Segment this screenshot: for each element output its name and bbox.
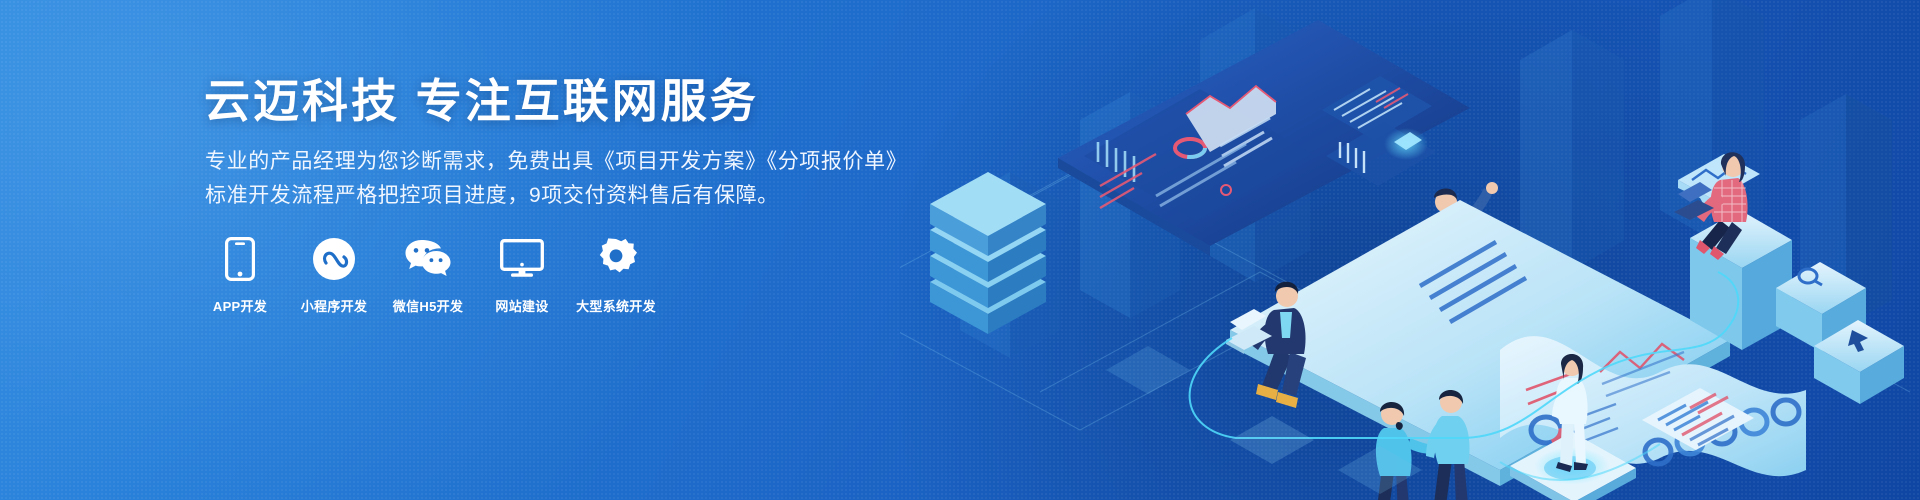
isometric-illustration (900, 0, 1920, 500)
mobile-phone-icon (225, 236, 255, 282)
service-label-mini-program: 小程序开发 (301, 296, 368, 315)
service-item-large-system[interactable]: 大型系统开发 (576, 236, 656, 315)
person-with-laptop (1226, 282, 1306, 408)
banner-content: 云迈科技 专注互联网服务 专业的产品经理为您诊断需求，免费出具《项目开发方案》《… (200, 0, 900, 500)
service-label-wechat: 微信H5开发 (393, 296, 463, 315)
service-item-wechat[interactable]: 微信H5开发 (388, 236, 468, 315)
service-label-website: 网站建设 (495, 296, 548, 315)
service-item-app[interactable]: APP开发 (200, 236, 280, 315)
page-title: 云迈科技 专注互联网服务 (204, 74, 759, 129)
gear-icon (595, 236, 637, 282)
mini-program-icon (312, 236, 356, 282)
hero-banner: 云迈科技 专注互联网服务 专业的产品经理为您诊断需求，免费出具《项目开发方案》《… (0, 0, 1920, 500)
service-label-app: APP开发 (213, 296, 267, 315)
banner-subtitle-line-1: 专业的产品经理为您诊断需求，免费出具《项目开发方案》《分项报价单》 (205, 146, 907, 179)
service-label-large-system: 大型系统开发 (576, 296, 656, 315)
server-stack-icon (930, 172, 1046, 334)
service-item-website[interactable]: 网站建设 (482, 236, 562, 315)
banner-subtitle-line-2: 标准开发流程严格把控项目进度，9项交付资料售后有保障。 (205, 180, 779, 213)
service-list: APP开发 小程序开发 (200, 236, 670, 315)
monitor-icon (500, 236, 544, 282)
service-item-mini-program[interactable]: 小程序开发 (294, 236, 374, 315)
wechat-icon (404, 236, 452, 282)
